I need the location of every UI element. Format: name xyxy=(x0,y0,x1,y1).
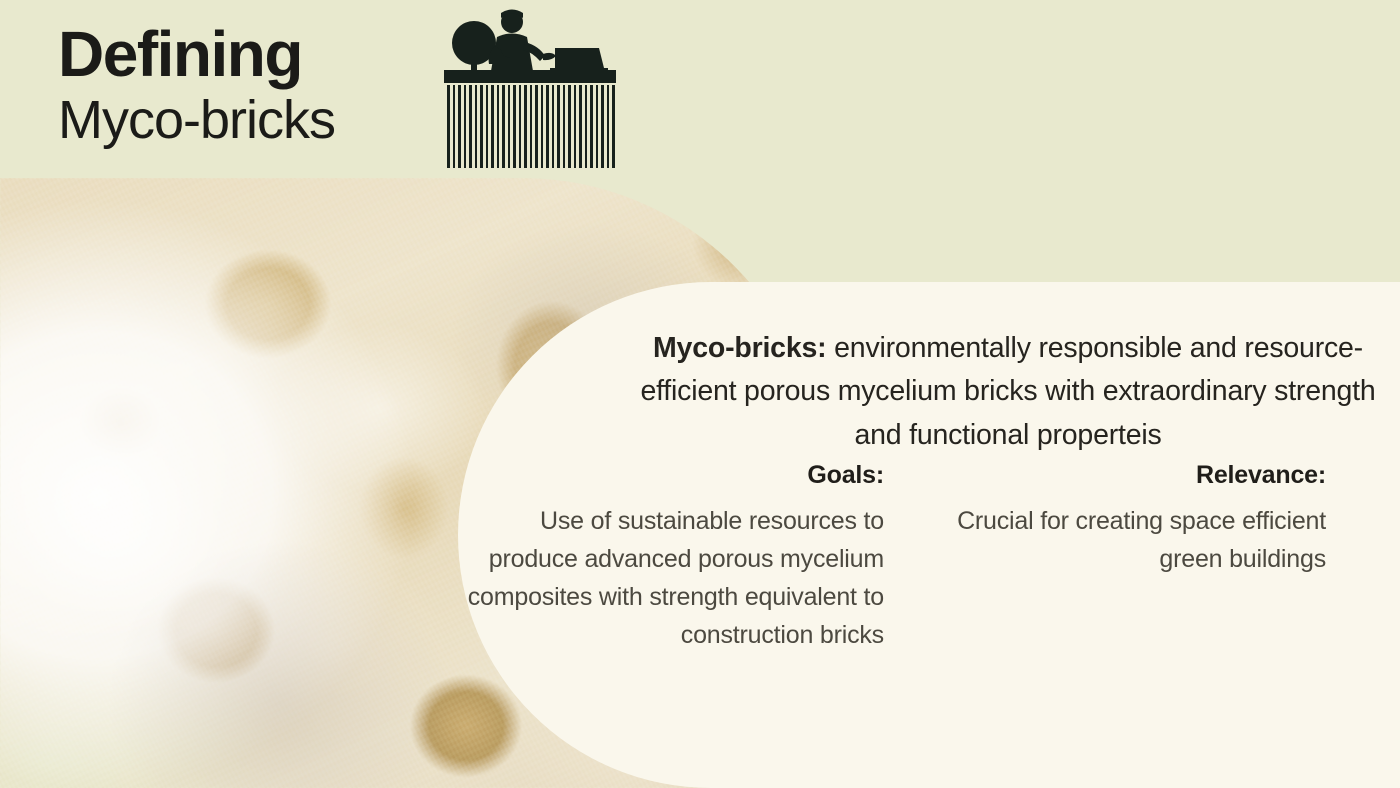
definition-lead: Myco-bricks: xyxy=(653,332,826,364)
column-relevance-heading: Relevance: xyxy=(930,460,1326,490)
definition-text: Myco-bricks: environmentally responsible… xyxy=(628,327,1388,459)
content-card: Myco-bricks: environmentally responsible… xyxy=(458,282,1400,788)
column-relevance: Relevance: Crucial for creating space ef… xyxy=(930,460,1400,578)
column-goals: Goals: Use of sustainable resources to p… xyxy=(458,460,930,654)
column-goals-body: Use of sustainable resources to produce … xyxy=(458,502,884,654)
column-relevance-body: Crucial for creating space efficient gre… xyxy=(930,502,1326,578)
title-line-secondary: Myco-bricks xyxy=(58,89,335,153)
column-goals-heading: Goals: xyxy=(458,460,884,490)
slide-canvas: Defining Myco-bricks xyxy=(0,0,1400,788)
page-title: Defining Myco-bricks xyxy=(58,22,335,153)
title-line-primary: Defining xyxy=(58,22,335,87)
presenter-at-desk-icon xyxy=(437,6,623,174)
detail-columns: Goals: Use of sustainable resources to p… xyxy=(458,460,1400,654)
